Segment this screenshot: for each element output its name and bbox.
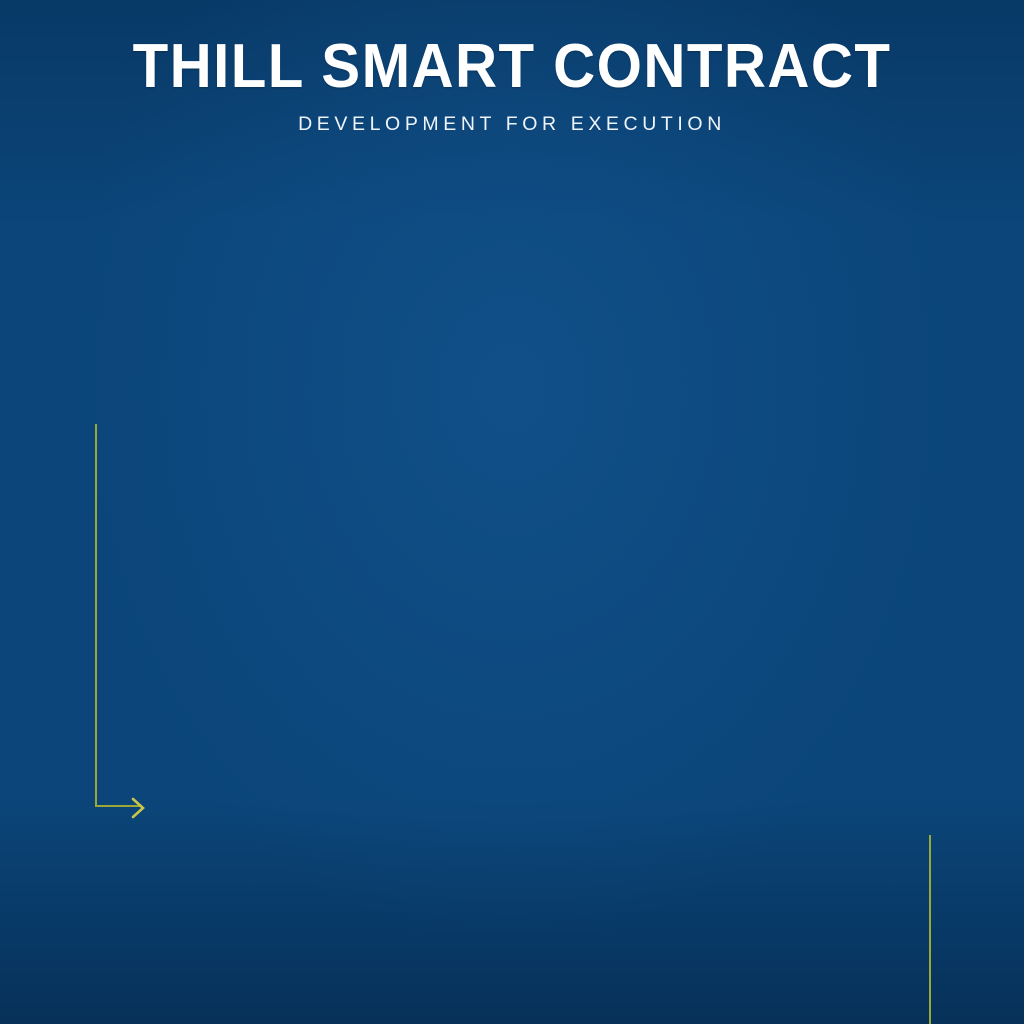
page-subtitle: DEVELOPMENT FOR EXECUTION (0, 113, 1024, 136)
frame-line-left (95, 424, 97, 806)
infographic-canvas: THILL SMART CONTRACT DEVELOPMENT FOR EXE… (0, 0, 1024, 1024)
arrow-right-icon (131, 797, 145, 819)
page-title: THILL SMART CONTRACT (31, 34, 994, 99)
header: THILL SMART CONTRACT DEVELOPMENT FOR EXE… (0, 34, 1024, 136)
frame-line-right (929, 835, 931, 1024)
